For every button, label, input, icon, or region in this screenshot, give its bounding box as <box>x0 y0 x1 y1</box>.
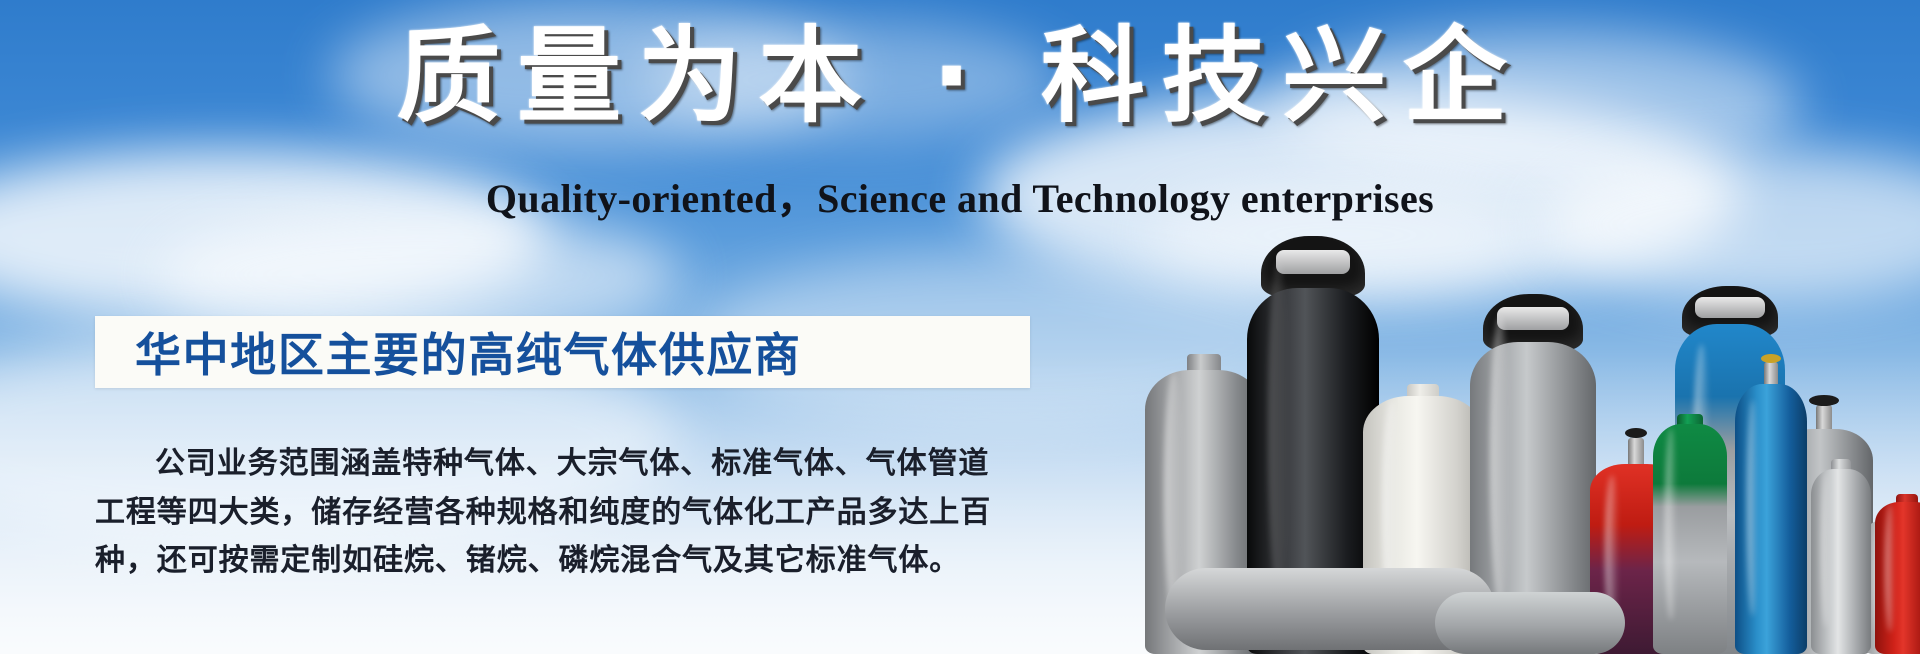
blue-cylinder <box>1735 384 1807 654</box>
slogan-text: 华中地区主要的高纯气体供应商 <box>95 319 802 385</box>
gas-cylinders-image <box>1135 170 1920 654</box>
banner-description: 公司业务范围涵盖特种气体、大宗气体、标准气体、气体管道 工程等四大类，储存经营各… <box>95 440 1035 586</box>
promo-banner: 质量为本 · 科技兴企 Quality-oriented，Science and… <box>0 0 1920 654</box>
banner-headline: 质量为本 · 科技兴企 <box>0 22 1920 131</box>
horizontal-tank-small <box>1435 592 1625 654</box>
green-cylinder <box>1653 414 1727 654</box>
description-line-1: 公司业务范围涵盖特种气体、大宗气体、标准气体、气体管道 <box>95 440 1035 489</box>
red-cylinder <box>1875 494 1920 654</box>
slogan-box: 华中地区主要的高纯气体供应商 <box>95 316 1030 388</box>
description-line-2: 工程等四大类，储存经营各种规格和纯度的气体化工产品多达上百 <box>95 489 1035 538</box>
description-line-3: 种，还可按需定制如硅烷、锗烷、磷烷混合气及其它标准气体。 <box>95 537 1035 586</box>
aluminium-cylinder-right <box>1811 459 1871 654</box>
